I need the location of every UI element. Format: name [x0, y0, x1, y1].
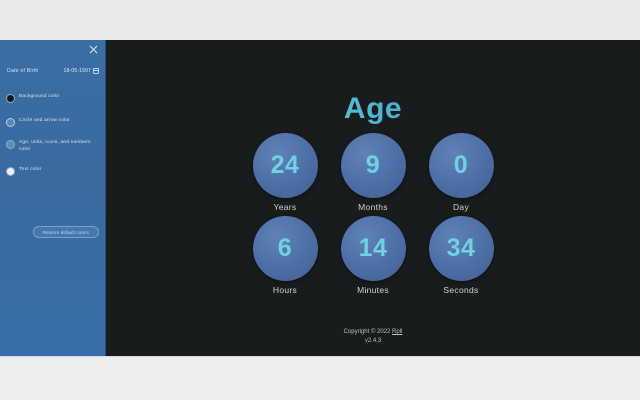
age-cell: 6 Hours: [247, 216, 323, 295]
color-option-background[interactable]: Background color: [7, 94, 102, 102]
date-of-birth-value-group[interactable]: 18-05-1997: [63, 68, 99, 74]
age-unit: Day: [453, 202, 469, 212]
color-option-label: Circle and arrow color: [19, 118, 70, 125]
bottom-divider: [0, 356, 640, 357]
color-option-circle-arrow[interactable]: Circle and arrow color: [7, 118, 102, 126]
color-option-label: Background color: [19, 94, 59, 101]
close-icon[interactable]: [87, 43, 100, 56]
color-option-label: Text color: [19, 167, 41, 174]
screenshot-root: Date of Birth 18-05-1997 Background colo…: [0, 0, 640, 400]
copyright-line: Copyright © 2022 Rpll: [106, 328, 640, 337]
age-cell: 34 Seconds: [423, 216, 499, 295]
date-of-birth-row[interactable]: Date of Birth 18-05-1997: [7, 64, 99, 78]
age-row-secondary: 6 Hours 14 Minutes 34 Secon: [247, 216, 499, 295]
age-value: 34: [447, 234, 476, 263]
version-text: v2.4.3: [106, 337, 640, 346]
date-of-birth-label: Date of Birth: [7, 68, 38, 74]
age-circle: 0: [429, 133, 494, 198]
age-unit: Years: [274, 202, 297, 212]
calendar-icon[interactable]: [93, 68, 99, 74]
settings-panel: Date of Birth 18-05-1997 Background colo…: [0, 40, 106, 356]
browser-bottom-band: [0, 356, 640, 400]
age-calculator-app: Date of Birth 18-05-1997 Background colo…: [0, 40, 640, 356]
color-swatch-icon[interactable]: [7, 168, 14, 175]
age-cell: 0 Day: [423, 133, 499, 212]
copyright-text: Copyright © 2022: [344, 329, 392, 335]
age-unit: Seconds: [443, 285, 478, 295]
age-cell: 14 Minutes: [335, 216, 411, 295]
age-value: 0: [454, 151, 468, 180]
age-unit: Minutes: [357, 285, 389, 295]
author-link[interactable]: Rpll: [392, 329, 402, 335]
date-of-birth-value[interactable]: 18-05-1997: [63, 68, 91, 74]
age-row-primary: 24 Years 9 Months 0 Day: [247, 133, 499, 212]
color-swatch-icon[interactable]: [7, 141, 14, 148]
age-value: 9: [366, 151, 380, 180]
age-value: 14: [359, 234, 388, 263]
color-swatch-icon[interactable]: [7, 119, 14, 126]
age-circle: 9: [341, 133, 406, 198]
age-cell: 9 Months: [335, 133, 411, 212]
age-cell: 24 Years: [247, 133, 323, 212]
age-circle: 6: [253, 216, 318, 281]
age-value: 24: [271, 151, 300, 180]
age-unit: Hours: [273, 285, 297, 295]
age-circle: 24: [253, 133, 318, 198]
age-circle: 34: [429, 216, 494, 281]
footer: Copyright © 2022 Rpll v2.4.3: [106, 328, 640, 346]
age-value: 6: [278, 234, 292, 263]
age-unit: Months: [358, 202, 388, 212]
color-swatch-icon[interactable]: [7, 95, 14, 102]
color-option-text[interactable]: Text color: [7, 167, 102, 175]
color-option-age-units-numbers[interactable]: Age, units, icons, and numbers color: [7, 140, 102, 153]
page-title: Age: [106, 92, 640, 126]
browser-top-band: [0, 0, 640, 40]
restore-default-colors-button[interactable]: Restore default colors: [33, 226, 99, 238]
color-option-label: Age, units, icons, and numbers color: [19, 140, 102, 153]
age-display: Age 24 Years 9 Months: [106, 40, 640, 356]
age-circle: 14: [341, 216, 406, 281]
age-grid: 24 Years 9 Months 0 Day: [106, 133, 640, 295]
